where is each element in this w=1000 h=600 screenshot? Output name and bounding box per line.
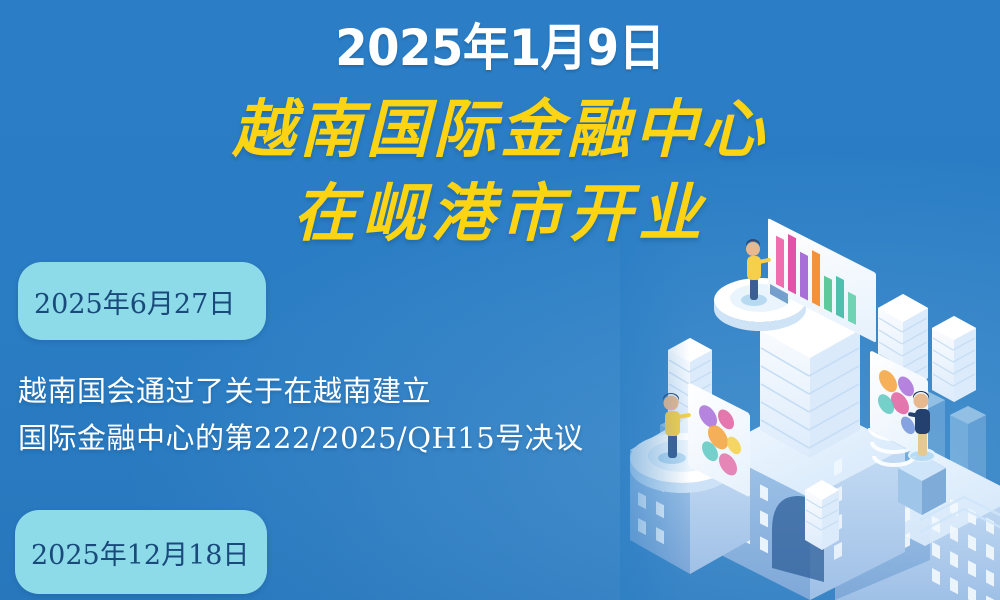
headline-line-1: 越南国际金融中心 xyxy=(0,88,1000,172)
body-line-2: 国际金融中心的第222/2025/QH15号决议 xyxy=(18,415,584,462)
timeline-end-date-badge: 2025年12月18日 xyxy=(15,510,267,594)
body-line-1: 越南国会通过了关于在越南建立 xyxy=(18,368,584,415)
headline: 越南国际金融中心 在岘港市开业 xyxy=(0,88,1000,256)
isometric-smart-city-illustration xyxy=(620,200,1000,600)
timeline-start-date-badge: 2025年6月27日 xyxy=(18,262,266,340)
body-paragraph: 越南国会通过了关于在越南建立 国际金融中心的第222/2025/QH15号决议 xyxy=(18,368,584,462)
poster-canvas: 2025年1月9日 越南国际金融中心 在岘港市开业 2025年6月27日 越南国… xyxy=(0,0,1000,600)
timeline-end-date-text: 2025年12月18日 xyxy=(31,533,249,572)
timeline-start-date-text: 2025年6月27日 xyxy=(34,282,235,321)
headline-line-2: 在岘港市开业 xyxy=(0,172,1000,256)
page-title-date: 2025年1月9日 xyxy=(35,22,965,75)
